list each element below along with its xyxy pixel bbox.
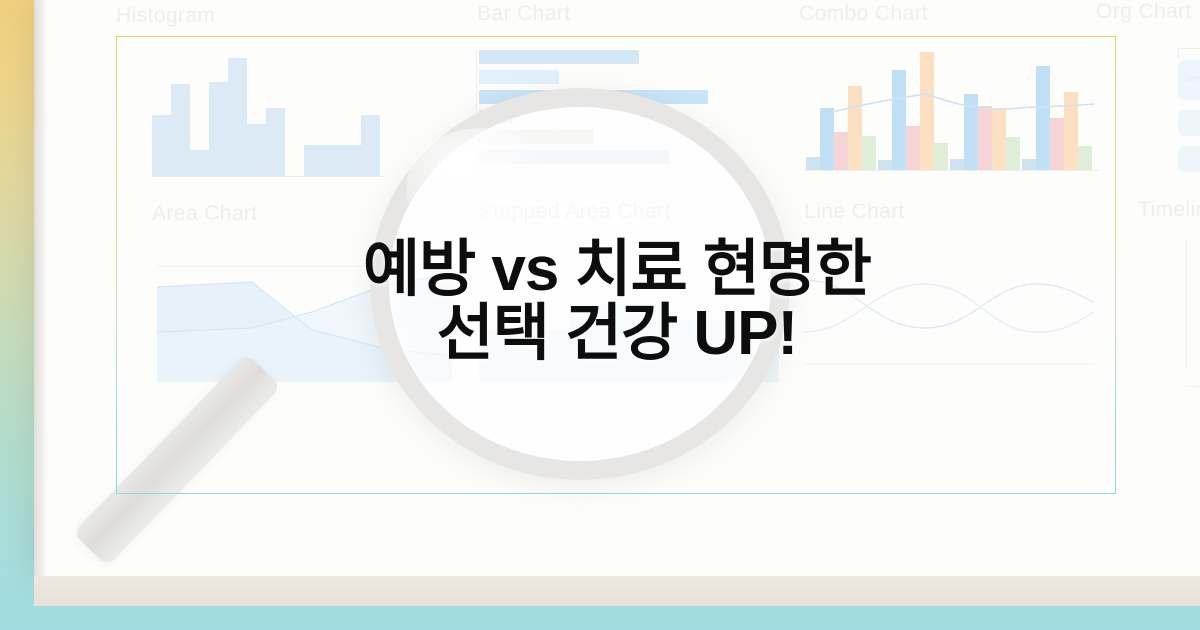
org-connector bbox=[1178, 48, 1179, 60]
combo-bar bbox=[978, 106, 992, 170]
org-node: Cleaners bbox=[1178, 146, 1200, 172]
histogram-axis bbox=[152, 176, 384, 177]
combo-axis bbox=[804, 170, 1100, 171]
histogram-bar bbox=[171, 84, 190, 176]
histogram-bar bbox=[247, 124, 266, 176]
combo-bar bbox=[878, 160, 892, 170]
combo-bar bbox=[1006, 137, 1020, 170]
section-title-timeline: Timeline bbox=[1138, 198, 1200, 222]
combo-bar bbox=[820, 108, 834, 170]
histogram-bar bbox=[209, 82, 228, 176]
combo-bar bbox=[950, 159, 964, 170]
org-node: Jerry Vice President bbox=[1178, 60, 1200, 100]
section-title-bar-chart: Bar Chart bbox=[477, 2, 570, 26]
section-title-org-chart: Org Chart bbox=[1096, 0, 1192, 24]
headline-line-1: 예방 vs 치료 현명한 bbox=[363, 235, 871, 304]
combo-bar bbox=[834, 132, 848, 170]
combo-bar bbox=[1064, 92, 1078, 170]
poster-stage: Histogram Bar Chart bbox=[0, 0, 1200, 630]
section-title-combo-chart: Combo Chart bbox=[799, 2, 928, 26]
magnifier-handle-icon bbox=[73, 353, 281, 566]
headline-line-2: 선택 건강 UP! bbox=[34, 302, 1200, 366]
chart-combo bbox=[804, 50, 1104, 170]
combo-bar bbox=[934, 143, 948, 170]
combo-bar bbox=[992, 109, 1006, 170]
section-title-area-chart: Area Chart bbox=[152, 202, 258, 226]
poster-headline: 예방 vs 치료 현명한 선택 건강 UP! bbox=[34, 238, 1200, 366]
org-connector bbox=[1178, 48, 1200, 49]
combo-bar bbox=[920, 52, 934, 170]
histogram-bar bbox=[228, 58, 247, 176]
timeline-baseline bbox=[1186, 386, 1200, 387]
combo-bar bbox=[906, 126, 920, 170]
combo-bar bbox=[964, 94, 978, 170]
combo-bar bbox=[848, 86, 862, 170]
combo-bar bbox=[1078, 146, 1092, 170]
histogram-bar bbox=[266, 108, 285, 176]
combo-bar bbox=[892, 70, 906, 170]
combo-bar bbox=[806, 157, 820, 170]
histogram-bar bbox=[152, 115, 171, 176]
histogram-bar bbox=[361, 115, 380, 176]
bar-chart-bar bbox=[479, 50, 639, 64]
combo-trend-line bbox=[804, 50, 1104, 170]
card-shelf bbox=[34, 576, 1200, 606]
org-node: Kent bbox=[1178, 110, 1200, 136]
chart-histogram bbox=[152, 58, 352, 176]
histogram-bar bbox=[304, 145, 323, 176]
bar-chart-bar bbox=[479, 70, 559, 84]
combo-bar bbox=[1050, 118, 1064, 170]
chart-org: Jerry Vice President Kent Cleaners bbox=[1134, 48, 1200, 178]
histogram-bar bbox=[342, 145, 361, 176]
combo-bar bbox=[1022, 159, 1036, 170]
section-title-line-chart: Line Chart bbox=[804, 200, 905, 224]
section-title-histogram: Histogram bbox=[116, 4, 215, 28]
histogram-bar bbox=[323, 145, 342, 176]
magnifier-glint bbox=[406, 128, 556, 248]
histogram-bar bbox=[190, 150, 209, 176]
combo-bar bbox=[1036, 66, 1050, 170]
combo-bar bbox=[862, 136, 876, 170]
white-card-panel: Histogram Bar Chart bbox=[34, 0, 1200, 578]
